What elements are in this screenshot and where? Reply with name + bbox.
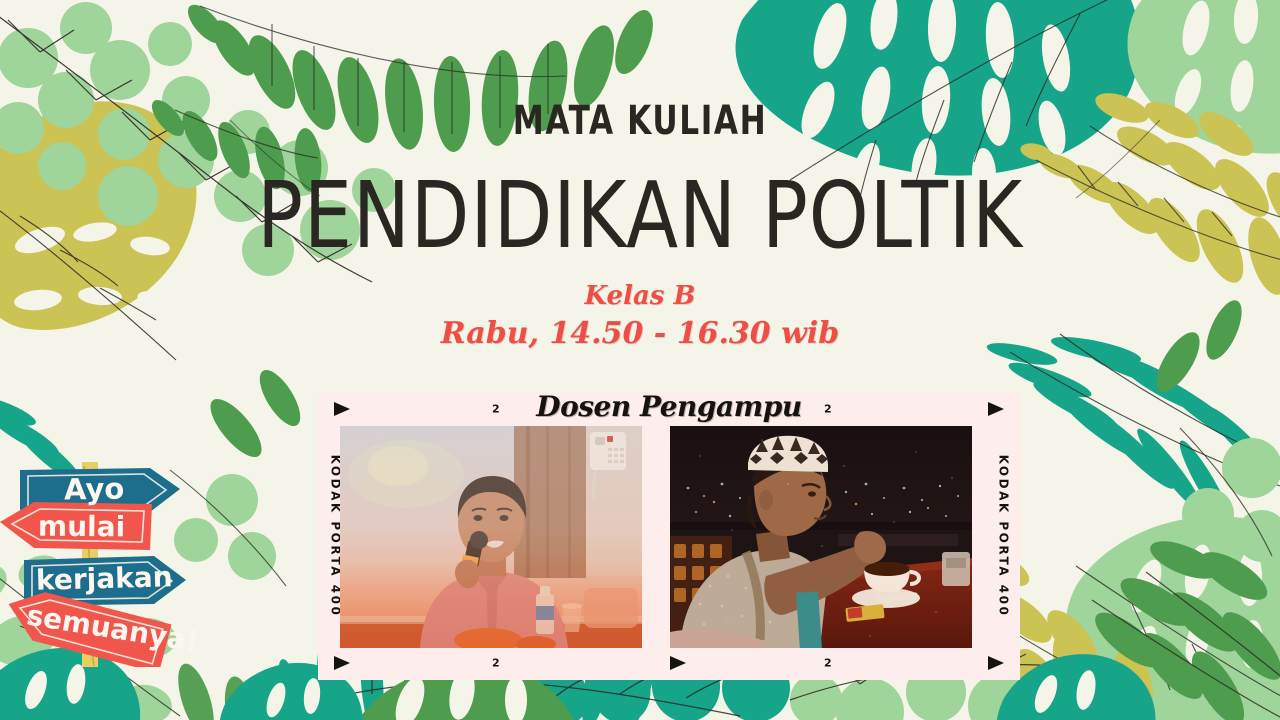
film-arrow-icon — [334, 656, 350, 670]
poster-canvas: Ayo mulai kerjakan semuanya! MATA KULIAH… — [0, 0, 1280, 720]
film-frame-number: 2 — [824, 657, 832, 670]
schedule-line: Rabu, 14.50 - 16.30 wib — [0, 316, 1280, 351]
film-brand-label: KODAK PORTA 400 — [996, 455, 1010, 618]
course-eyebrow: MATA KULIAH — [141, 98, 1139, 144]
film-brand-right: KODAK PORTA 400 — [986, 426, 1020, 646]
film-strip: 2 2 Dosen Pengampu 2 2 KODAK PORTA 400 K… — [318, 392, 1020, 680]
film-rail-top: 2 2 Dosen Pengampu — [318, 392, 1020, 426]
lecturer-heading: Dosen Pengampu — [318, 390, 1020, 423]
film-arrow-icon — [670, 656, 686, 670]
film-arrow-icon — [988, 656, 1004, 670]
film-frame-number: 2 — [492, 657, 500, 670]
page-title: PENDIDIKAN POLTIK — [51, 170, 1229, 262]
lecturer-night-cafe-photo — [670, 426, 972, 648]
class-line: Kelas B — [0, 281, 1280, 311]
lecturer-speaking-photo — [340, 426, 642, 648]
film-rail-bottom: 2 2 — [318, 646, 1020, 680]
